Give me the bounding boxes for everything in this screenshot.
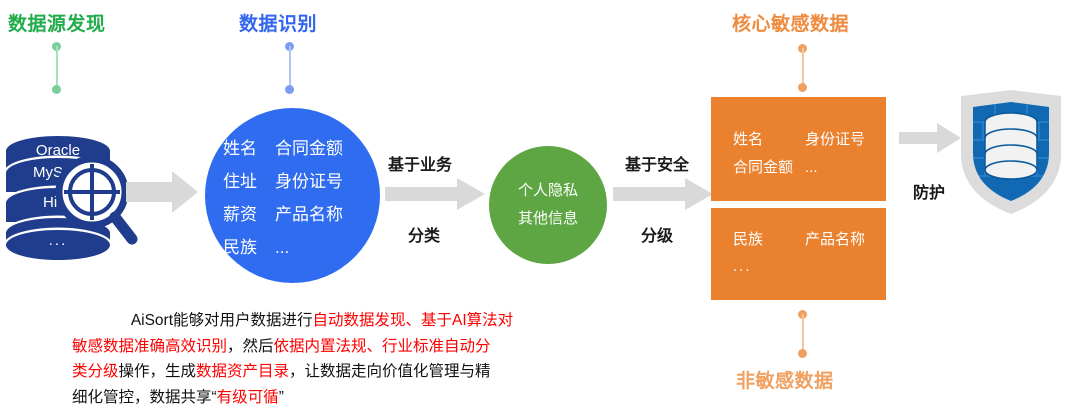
field-name: 产品名称 [805,228,865,249]
field-row: 薪资 产品名称 [223,200,370,233]
field-name: 住址 [223,167,275,192]
field-name: 合同金额 [275,134,370,159]
arrow-label-grade: 分级 [641,222,673,246]
database-cylinder-glyph [985,113,1037,179]
field-row: ... [733,258,878,288]
caption-text: ，让数据走向价值化管理与精 [289,363,491,380]
connector-dot-bottom [52,85,61,94]
field-row: 民族 ... [223,233,370,266]
field-name: 身份证号 [275,167,370,192]
non-sensitive-data-box: 民族 产品名称 ... [711,208,886,300]
caption-highlight: 数据资产目录 [196,363,289,380]
core-sensitive-data-box: 姓名 身份证号 合同金额 ... [711,97,886,201]
caption-highlight: 自动数据发现、基于AI算法对 [313,312,514,329]
label-core-sensitive-data: 核心敏感数据 [732,9,849,36]
field-name: ... [733,258,805,275]
label-source-discovery: 数据源发现 [8,9,106,36]
arrow-label-classify: 分类 [408,222,440,246]
field-row: 住址 身份证号 [223,167,370,200]
label-non-sensitive-data: 非敏感数据 [736,366,834,393]
arrow-discover [126,171,198,218]
field-row: 合同金额 ... [733,156,878,184]
caption-text: 细化管控，数据共享“ [72,389,217,406]
caption-highlight: 依据内置法规、行业标准自动分 [274,338,491,355]
arrow-label-protect: 防护 [913,179,945,203]
connector-dot-bottom [285,85,294,94]
classification-line: 个人隐私 [518,177,578,205]
field-name: ... [805,159,818,176]
caption-text: 操作，生成 [119,363,197,380]
arrow-protect [899,122,961,159]
label-data-identification: 数据识别 [239,9,317,36]
field-name: 民族 [733,228,805,249]
field-row: 民族 产品名称 [733,228,878,258]
connector-core-sensitive [798,44,807,92]
arrow-grade [613,178,713,215]
connector-line [289,46,291,90]
caption-highlight: 有级可循 [217,389,279,406]
field-row: 姓名 身份证号 [733,128,878,156]
field-name: ... [275,238,370,258]
field-row: 姓名 合同金额 [223,134,370,167]
field-name: 合同金额 [733,156,805,177]
connector-dot-bottom [798,83,807,92]
arrow-label-classify-basis: 基于业务 [388,151,452,175]
field-name: 姓名 [223,134,275,159]
connector-dot-bottom [798,349,807,358]
shield-protection-icon [955,88,1067,216]
caption-text: AiSort能够对用户数据进行 [131,312,313,329]
connector-line [802,48,804,88]
connector-source-discovery [52,42,61,94]
arrow-classify [385,178,485,215]
caption-highlight: 敏感数据准确高效识别 [72,338,227,355]
diagram-canvas: 数据源发现 数据识别 核心敏感数据 Oracle MySQL Hive ... [0,0,1080,416]
caption-paragraph: AiSort能够对用户数据进行自动数据发现、基于AI算法对 敏感数据准确高效识别… [72,308,572,410]
field-name: 薪资 [223,200,275,225]
field-name: 民族 [223,233,275,258]
identification-field-list: 姓名 合同金额 住址 身份证号 薪资 产品名称 民族 ... [223,134,370,266]
connector-data-identification [285,42,294,94]
classification-line: 其他信息 [518,205,578,233]
caption-highlight: 类分级 [72,363,119,380]
connector-line [56,46,58,90]
field-name: 姓名 [733,128,805,149]
classification-circle: 个人隐私 其他信息 [489,146,607,264]
field-name: 身份证号 [805,128,865,149]
caption-text: ” [279,389,284,406]
arrow-label-grade-basis: 基于安全 [625,151,689,175]
connector-line [802,314,804,354]
identification-circle: 姓名 合同金额 住址 身份证号 薪资 产品名称 民族 ... [205,108,380,283]
field-name: 产品名称 [275,200,370,225]
connector-non-sensitive [798,310,807,358]
caption-text: ，然后 [227,338,274,355]
